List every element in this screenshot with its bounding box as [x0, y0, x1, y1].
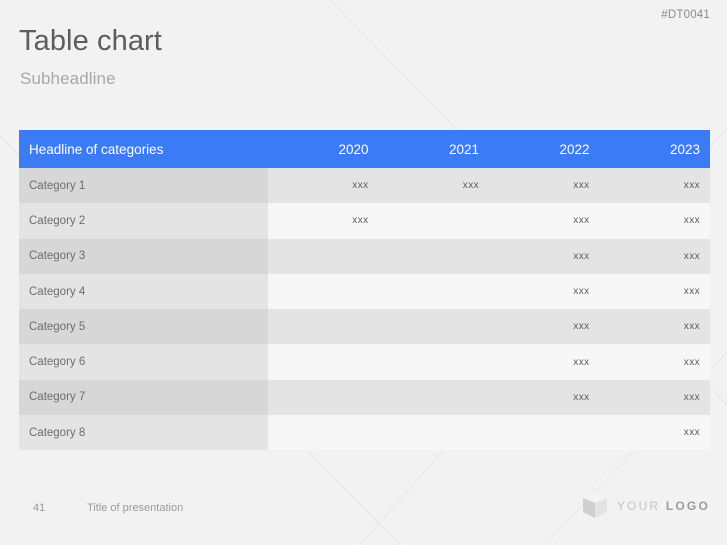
column-header-2020[interactable]: 2020 [268, 130, 379, 168]
cell-2021 [379, 344, 490, 379]
row-label: Category 3 [19, 239, 268, 274]
row-label: Category 1 [19, 168, 268, 203]
cell-2022: xxx [489, 309, 600, 344]
cell-2021 [379, 274, 490, 309]
data-table: Headline of categories 2020 2021 2022 20… [19, 130, 710, 450]
cell-2022: xxx [489, 203, 600, 238]
cell-2022 [489, 415, 600, 450]
cell-2022: xxx [489, 344, 600, 379]
cell-2023: xxx [600, 309, 711, 344]
cell-2023: xxx [600, 274, 711, 309]
cell-2021 [379, 309, 490, 344]
cell-2022: xxx [489, 239, 600, 274]
column-header-2023[interactable]: 2023 [600, 130, 711, 168]
row-label: Category 4 [19, 274, 268, 309]
presentation-title: Title of presentation [87, 502, 183, 514]
row-label: Category 6 [19, 344, 268, 379]
table-row[interactable]: Category 8 xxx [19, 415, 710, 450]
table-chart: Headline of categories 2020 2021 2022 20… [19, 130, 710, 450]
logo-text: YOUR LOGO [617, 499, 710, 513]
cell-2023: xxx [600, 168, 711, 203]
column-header-2021[interactable]: 2021 [379, 130, 490, 168]
table-row[interactable]: Category 1 xxx xxx xxx xxx [19, 168, 710, 203]
cell-2023: xxx [600, 380, 711, 415]
cell-2020 [268, 380, 379, 415]
cell-2021 [379, 239, 490, 274]
cell-2023: xxx [600, 203, 711, 238]
table-row[interactable]: Category 5 xxx xxx [19, 309, 710, 344]
cell-2020 [268, 309, 379, 344]
logo-word-your: YOUR [617, 499, 660, 513]
cell-2021 [379, 203, 490, 238]
row-label: Category 2 [19, 203, 268, 238]
row-label: Category 7 [19, 380, 268, 415]
column-header-categories[interactable]: Headline of categories [19, 130, 268, 168]
cell-2020 [268, 344, 379, 379]
cell-2021: xxx [379, 168, 490, 203]
table-row[interactable]: Category 3 xxx xxx [19, 239, 710, 274]
cell-2020 [268, 239, 379, 274]
slide: #DT0041 Table chart Subheadline PRESENTA… [0, 0, 727, 545]
page-number: 41 [33, 502, 45, 514]
page-subtitle: Subheadline [20, 70, 116, 89]
cell-2020 [268, 274, 379, 309]
cell-2020: xxx [268, 168, 379, 203]
cell-2022: xxx [489, 274, 600, 309]
cell-2021 [379, 380, 490, 415]
table-row[interactable]: Category 2 xxx xxx xxx [19, 203, 710, 238]
cell-2023: xxx [600, 415, 711, 450]
cell-2022: xxx [489, 380, 600, 415]
page-title: Table chart [19, 26, 162, 58]
table-body: Category 1 xxx xxx xxx xxx Category 2 xx… [19, 168, 710, 450]
column-header-2022[interactable]: 2022 [489, 130, 600, 168]
row-label: Category 8 [19, 415, 268, 450]
cell-2023: xxx [600, 239, 711, 274]
table-header-row: Headline of categories 2020 2021 2022 20… [19, 130, 710, 168]
logo-word-logo: LOGO [666, 499, 710, 513]
cell-2020: xxx [268, 203, 379, 238]
cell-2020 [268, 415, 379, 450]
document-code: #DT0041 [661, 9, 710, 21]
cell-2023: xxx [600, 344, 711, 379]
logo: YOUR LOGO [582, 492, 710, 520]
table-head: Headline of categories 2020 2021 2022 20… [19, 130, 710, 168]
row-label: Category 5 [19, 309, 268, 344]
table-row[interactable]: Category 4 xxx xxx [19, 274, 710, 309]
table-row[interactable]: Category 7 xxx xxx [19, 380, 710, 415]
slide-footer: 41 Title of presentation YOUR LOGO [0, 475, 727, 545]
table-row[interactable]: Category 6 xxx xxx [19, 344, 710, 379]
cell-2021 [379, 415, 490, 450]
cube-logo-icon [582, 492, 608, 520]
cell-2022: xxx [489, 168, 600, 203]
